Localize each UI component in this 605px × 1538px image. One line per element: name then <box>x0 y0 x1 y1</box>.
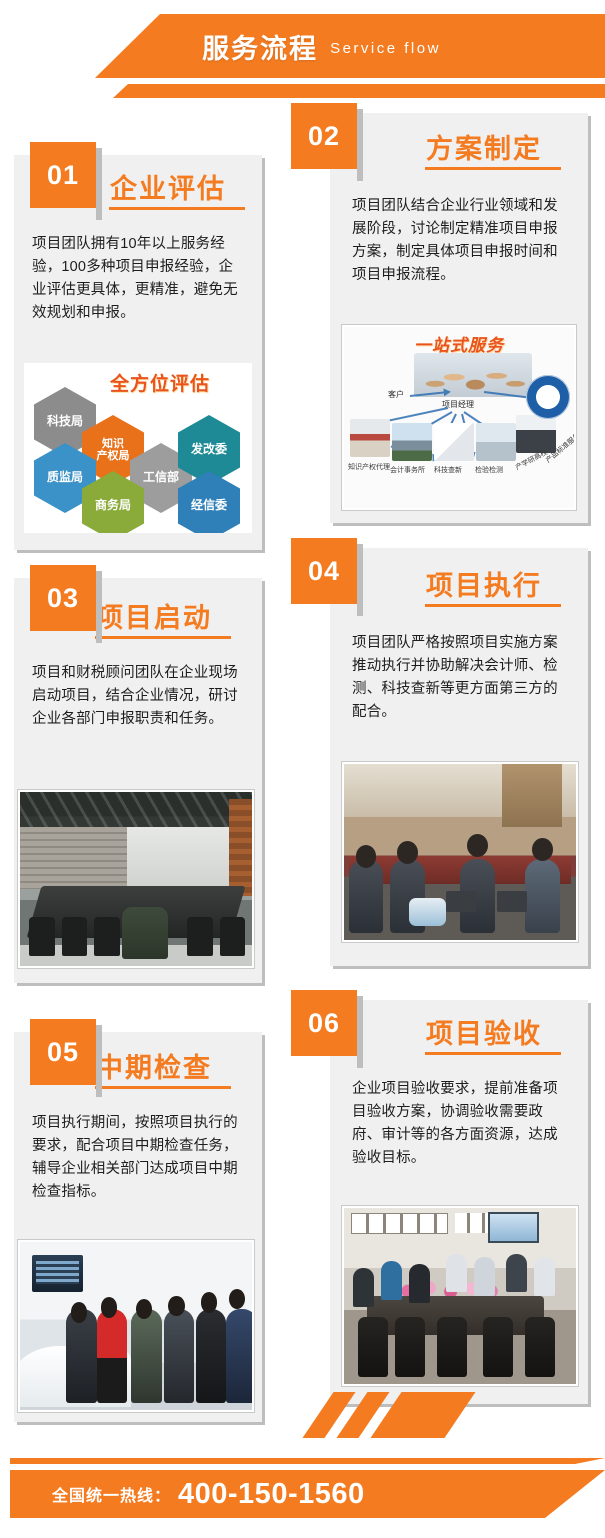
photo-door <box>502 764 562 827</box>
service-thumb-accounting <box>392 423 432 461</box>
photo-chair <box>220 917 246 955</box>
title-underline <box>95 1086 231 1089</box>
photo-laptop <box>446 891 476 912</box>
photo-person <box>164 1309 194 1403</box>
service-thumb-testing <box>476 423 516 461</box>
footer-thin-stripe <box>10 1458 605 1464</box>
step-card-04: 04 项目执行 项目团队严格按照项目实施方案推动执行并协助解决会计师、检测、科技… <box>330 548 588 966</box>
photo-conference-room <box>18 790 254 968</box>
photo-head <box>201 1292 217 1312</box>
photo-person <box>446 1254 467 1293</box>
service-branch-label: 知识产权代理 <box>348 462 390 472</box>
photo-chair <box>525 1317 555 1377</box>
service-branch-label: 会计事务所 <box>390 465 425 475</box>
step-text-04: 项目团队严格按照项目实施方案推动执行并协助解决会计师、检测、科技查新等更方面第三… <box>352 632 568 724</box>
badge-shadow <box>96 1025 102 1097</box>
photo-laptop <box>497 891 527 912</box>
photo-chair <box>395 1317 425 1377</box>
step-badge-03: 03 <box>30 565 96 631</box>
badge-shadow <box>357 996 363 1068</box>
photo-chair <box>437 1317 467 1377</box>
photo-chair <box>187 917 213 955</box>
photo-chair <box>62 917 88 955</box>
photo-person <box>131 1309 161 1403</box>
photo-boardroom <box>342 1206 578 1386</box>
title-underline <box>425 604 561 607</box>
badge-shadow <box>357 544 363 616</box>
service-branch-label: 检验检测 <box>475 465 503 475</box>
title-underline <box>425 1052 561 1055</box>
step-title-01: 企业评估 <box>110 167 226 206</box>
photo-person <box>353 1268 374 1307</box>
photo-wall-stone <box>20 827 127 890</box>
photo-display-screen <box>32 1255 83 1292</box>
photo-work-session <box>342 762 578 942</box>
step-card-06: 06 项目验收 企业项目验收要求，提前准备项目验收方案，协调验收需要政府、审计等… <box>330 1000 588 1404</box>
photo-head <box>168 1296 184 1316</box>
hexagon-figure-title: 全方位评估 <box>110 369 210 396</box>
photo-person-red-coat <box>97 1309 127 1403</box>
photo-person <box>506 1254 527 1293</box>
photo-person <box>196 1309 226 1403</box>
photo-person <box>226 1309 254 1403</box>
photo-ceiling <box>20 792 252 830</box>
step-card-05: 05 中期检查 项目执行期间，按照项目执行的要求，配合项目中期检查任务，辅导企业… <box>14 1032 262 1422</box>
photo-head <box>101 1297 117 1317</box>
infographic-page: 服务流程 Service flow 01 企业评估 项目团队拥有10年以上服务经… <box>0 0 605 1538</box>
photo-person <box>66 1309 96 1403</box>
step-title-06: 项目验收 <box>426 1012 542 1051</box>
step-title-04: 项目执行 <box>426 564 542 603</box>
step-text-03: 项目和财税顾问团队在企业现场启动项目，结合企业情况，研讨企业各部门申报职责和任务… <box>32 662 244 731</box>
step-text-06: 企业项目验收要求，提前准备项目验收方案，协调验收需要政府、审计等的各方面资源，达… <box>352 1078 568 1170</box>
photo-site-visit <box>18 1240 254 1412</box>
badge-shadow <box>96 148 102 220</box>
service-thumb-ip <box>350 419 390 457</box>
photo-head <box>356 845 377 868</box>
step-badge-04: 04 <box>291 538 357 604</box>
iso-seal-icon <box>526 375 570 419</box>
title-underline <box>109 207 245 210</box>
step-title-03: 项目启动 <box>96 596 212 635</box>
title-underline <box>95 636 231 639</box>
steps-grid: 01 企业评估 项目团队拥有10年以上服务经验，100多种项目申报经验，企业评估… <box>0 0 605 1538</box>
photo-chair <box>358 1317 388 1377</box>
photo-certificates <box>351 1213 448 1234</box>
badge-shadow <box>96 571 102 643</box>
service-thumb-search <box>434 423 474 461</box>
service-team-photo <box>414 353 532 397</box>
step-text-05: 项目执行期间，按照项目执行的要求，配合项目中期检查任务，辅导企业相关部门达成项目… <box>32 1112 244 1204</box>
footer-text-group: 全国统一热线： 400-150-1560 <box>52 1470 365 1518</box>
step-badge-01: 01 <box>30 142 96 208</box>
photo-chair <box>29 917 55 955</box>
photo-person <box>349 859 384 933</box>
photo-wood-panel <box>229 799 252 896</box>
footer-hotline-bar: 全国统一热线： 400-150-1560 <box>0 1420 605 1538</box>
step-card-03: 03 项目启动 项目和财税顾问团队在企业现场启动项目，结合企业情况，研讨企业各部… <box>14 578 262 983</box>
photo-projector-screen <box>488 1212 539 1244</box>
photo-person <box>409 1264 430 1303</box>
photo-bag <box>409 898 446 926</box>
step-title-02: 方案制定 <box>426 127 542 166</box>
one-stop-service-figure: 一站式服务 客户 项目经理 知识产权代理 会计事务所 科 <box>342 325 576 510</box>
step-card-01: 01 企业评估 项目团队拥有10年以上服务经验，100多种项目申报经验，企业评估… <box>14 155 262 550</box>
photo-person <box>474 1257 495 1296</box>
footer-hotline-number[interactable]: 400-150-1560 <box>178 1478 365 1511</box>
photo-head <box>229 1289 245 1309</box>
step-card-02: 02 方案制定 项目团队结合企业行业领域和发展阶段，讨论制定精准项目申报方案，制… <box>330 113 588 523</box>
service-label-customer: 客户 <box>388 389 404 400</box>
footer-hotline-label: 全国统一热线： <box>52 1482 171 1506</box>
title-underline <box>425 167 561 170</box>
photo-person <box>381 1261 402 1300</box>
badge-shadow <box>357 109 363 181</box>
step-title-05: 中期检查 <box>96 1046 212 1085</box>
service-branch-label: 科技查新 <box>434 465 462 475</box>
photo-head <box>467 834 488 857</box>
photo-head <box>532 838 553 861</box>
photo-head <box>71 1302 87 1322</box>
hexagon-assessment-figure: 全方位评估 科技局 知识产权局 质监局 工信部 商务局 发改委 经信委 <box>24 363 252 533</box>
photo-person <box>534 1257 555 1296</box>
photo-chair <box>483 1317 513 1377</box>
photo-chair <box>94 917 120 955</box>
service-thumb-university <box>516 415 556 453</box>
photo-person <box>525 859 560 933</box>
step-text-01: 项目团队拥有10年以上服务经验，100多种项目申报经验，企业评估更具体，更精准，… <box>32 233 244 325</box>
step-badge-06: 06 <box>291 990 357 1056</box>
step-text-02: 项目团队结合企业行业领域和发展阶段，讨论制定精准项目申报方案，制定具体项目申报时… <box>352 195 568 287</box>
step-badge-05: 05 <box>30 1019 96 1085</box>
step-badge-02: 02 <box>291 103 357 169</box>
photo-wall-plain <box>127 827 229 890</box>
photo-person <box>122 907 168 959</box>
